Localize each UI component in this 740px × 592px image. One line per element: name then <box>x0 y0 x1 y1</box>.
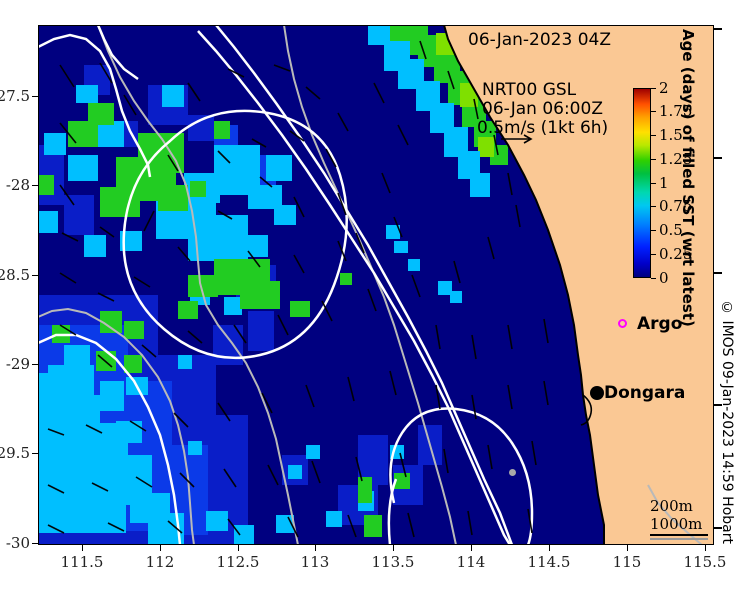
nrt-speed-label: 0.5m/s (1kt 6h) <box>477 118 608 138</box>
nrt-source-label: NRT00 GSL <box>482 80 576 100</box>
unlabeled-station-marker-icon <box>509 469 516 476</box>
x-tick <box>315 545 316 551</box>
argo-marker-icon <box>618 319 627 328</box>
colorbar-tick-label: 2 <box>659 79 669 97</box>
colorbar-tick <box>651 206 656 207</box>
colorbar-tick <box>651 159 656 160</box>
x-tick-label: 114 <box>457 553 486 571</box>
colorbar-ticks <box>651 88 657 278</box>
x-tick-label: 112 <box>146 553 175 571</box>
colorbar-tick <box>651 278 656 279</box>
colorbar-tick <box>651 111 656 112</box>
nrt-time-label: 06-Jan 06:00Z <box>482 99 603 119</box>
colorbar-tick-label: 0 <box>659 269 669 287</box>
x-tick <box>160 545 161 551</box>
colorbar-tick <box>651 88 656 89</box>
x-tick-label: 111.5 <box>61 553 104 571</box>
right-edge-tick <box>714 157 722 159</box>
y-tick-label: -28 <box>6 176 30 194</box>
depth-200m-label: 200m <box>650 497 708 515</box>
x-tick-label: 115 <box>613 553 642 571</box>
right-arrow-icon <box>500 133 536 145</box>
sst-age-map[interactable] <box>38 25 714 545</box>
right-edge-tick <box>714 272 722 274</box>
y-tick <box>32 275 38 276</box>
x-tick <box>705 545 706 551</box>
colorbar-tick <box>651 183 656 184</box>
timestamp-label: 06-Jan-2023 04Z <box>468 30 611 50</box>
depth-200m-rule <box>650 534 708 536</box>
y-tick-label: -29.5 <box>0 444 30 462</box>
y-tick <box>32 185 38 186</box>
x-tick-label: 113 <box>301 553 330 571</box>
figure-root: 06-Jan-2023 04Z NRT00 GSL 06-Jan 06:00Z … <box>0 0 740 592</box>
y-tick <box>32 96 38 97</box>
x-tick <box>82 545 83 551</box>
y-tick <box>32 543 38 544</box>
dongara-marker-icon <box>590 386 604 400</box>
colorbar-tick <box>651 135 656 136</box>
x-tick-label: 114.5 <box>528 553 571 571</box>
x-tick <box>471 545 472 551</box>
depth-contour-key: 200m 1000m <box>650 497 708 540</box>
depth-1000m-label: 1000m <box>650 515 708 533</box>
x-tick <box>238 545 239 551</box>
colorbar: 0 0.25 0.5 0.75 1 1.25 1.5 1.75 2 <box>633 88 651 278</box>
x-tick <box>627 545 628 551</box>
y-tick <box>32 453 38 454</box>
depth-1000m-rule <box>650 538 708 540</box>
dongara-city-label: Dongara <box>604 383 685 403</box>
y-tick-label: -30 <box>6 534 30 552</box>
right-edge-tick <box>714 28 722 30</box>
x-tick-label: 113.5 <box>372 553 415 571</box>
argo-legend-label: Argo <box>637 314 682 334</box>
x-tick <box>549 545 550 551</box>
x-tick <box>393 545 394 551</box>
colorbar-title: Age (days) of filled SST (wrt latest) <box>676 45 700 310</box>
y-tick-label: -28.5 <box>0 266 30 284</box>
y-tick-label: -27.5 <box>0 87 30 105</box>
y-tick <box>32 364 38 365</box>
x-tick-label: 112.5 <box>217 553 260 571</box>
colorbar-tick-label: 1 <box>659 174 669 192</box>
colorbar-tick <box>651 254 656 255</box>
colorbar-gradient <box>633 88 651 278</box>
colorbar-tick <box>651 230 656 231</box>
map-raster <box>38 25 714 545</box>
y-tick-label: -29 <box>6 355 30 373</box>
copyright-label: © IMOS 09-Jan-2023 14:59 Hobart <box>716 300 738 570</box>
